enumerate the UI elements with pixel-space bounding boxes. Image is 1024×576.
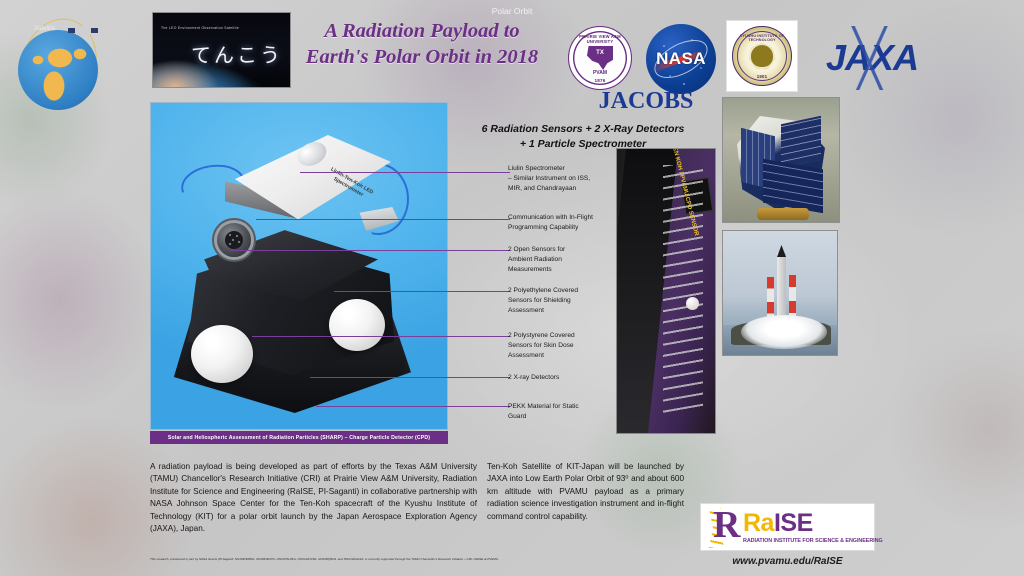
white-dome-sensor-right: [329, 299, 385, 351]
satellite-label: Satellite: [34, 26, 55, 32]
pvamu-seal-ring-bottom: 1876: [569, 78, 631, 83]
rocket-nose-cone: [777, 245, 786, 257]
raise-wordmark-ra: Ra: [743, 509, 774, 537]
title-line-2: Earth's Polar Orbit in 2018: [288, 44, 556, 70]
page-title: A Radiation Payload to Earth's Polar Orb…: [288, 18, 556, 70]
funding-footnote: This research, envisioned in part by NAS…: [150, 558, 690, 562]
pvamu-seal-sub-text: PVAM: [569, 70, 631, 76]
raise-logo: R RaISE RADIATION INSTITUTE FOR SCIENCE …: [700, 503, 875, 551]
body-text-right: Ten-Koh Satellite of KIT-Japan will be l…: [487, 461, 684, 523]
solar-panel-top: [781, 116, 821, 169]
raise-dna-r-icon: R: [703, 504, 743, 550]
body-text-left: A radiation payload is being developed a…: [150, 461, 477, 536]
payload-photo: Liulin-Ten-Koh LED Spectrometer: [150, 102, 448, 430]
nasa-wordmark: NASA: [656, 49, 706, 69]
raise-tagline: RADIATION INSTITUTE FOR SCIENCE & ENGINE…: [743, 538, 883, 544]
tenko-kana-text: てんこう: [191, 39, 283, 68]
pvamu-texas-shape: TX: [587, 46, 613, 70]
raise-website-url[interactable]: www.pvamu.edu/RaISE: [700, 556, 875, 567]
cpd-sensor-pcb-photo: NASA TEN KOH / PVAMU CPD SENSOR: [616, 148, 716, 434]
white-dome-sensor-left: [191, 325, 253, 383]
prairie-view-am-university-seal-icon: PRAIRIE VIEW A&M UNIVERSITY TX PVAM 1876: [568, 26, 632, 90]
satellite-icon: [76, 26, 90, 35]
tenko-header-text: The LEO Environment Observation Satellit…: [161, 26, 239, 30]
satellite-mount-base: [757, 208, 809, 220]
sensor-headline-line-1: 6 Radiation Sensors + 2 X-Ray Detectors: [438, 122, 728, 137]
raise-wordmark-main: RaISE: [743, 511, 883, 536]
rocket-exhaust-plume: [741, 315, 827, 349]
pcb-mount-hole: [686, 297, 699, 310]
title-line-1: A Radiation Payload to: [288, 18, 556, 44]
kit-seal-ring-bottom: 1901: [733, 74, 791, 79]
raise-wordmark: RaISE RADIATION INSTITUTE FOR SCIENCE & …: [743, 511, 887, 544]
kit-seal-inner: KYUSHU INSTITUTE OF TECHNOLOGY 1901: [732, 26, 792, 86]
polar-orbit-title: Polar Orbit: [0, 6, 1024, 16]
connector-pins: [225, 231, 243, 249]
payload-caption: Solar and Heliospheric Assessment of Rad…: [150, 431, 448, 444]
raise-wordmark-ise: ISE: [774, 509, 813, 537]
raise-r-letter: R: [713, 506, 740, 544]
jacobs-logo-icon: JACOBS: [580, 88, 712, 115]
h2a-rocket-launch-photo: [722, 230, 838, 356]
kit-seal-ring-top: KYUSHU INSTITUTE OF TECHNOLOGY: [733, 34, 791, 42]
ten-koh-satellite-photo: [722, 97, 840, 223]
pvamu-seal-ring-top: PRAIRIE VIEW A&M UNIVERSITY: [569, 34, 631, 44]
jaxa-slash-graphic: [810, 26, 932, 90]
tenko-cover-image: The LEO Environment Observation Satellit…: [152, 12, 291, 88]
earth-globe: [18, 30, 98, 110]
pvamu-seal-center-text: TX: [587, 50, 613, 56]
kyushu-institute-of-technology-seal-icon: KYUSHU INSTITUTE OF TECHNOLOGY 1901: [726, 20, 798, 92]
jaxa-logo-icon: JAXA: [806, 32, 938, 84]
poster-slide: The LEO Environment Observation Satellit…: [0, 0, 1024, 576]
nasa-meatball-icon: NASA: [646, 24, 716, 94]
